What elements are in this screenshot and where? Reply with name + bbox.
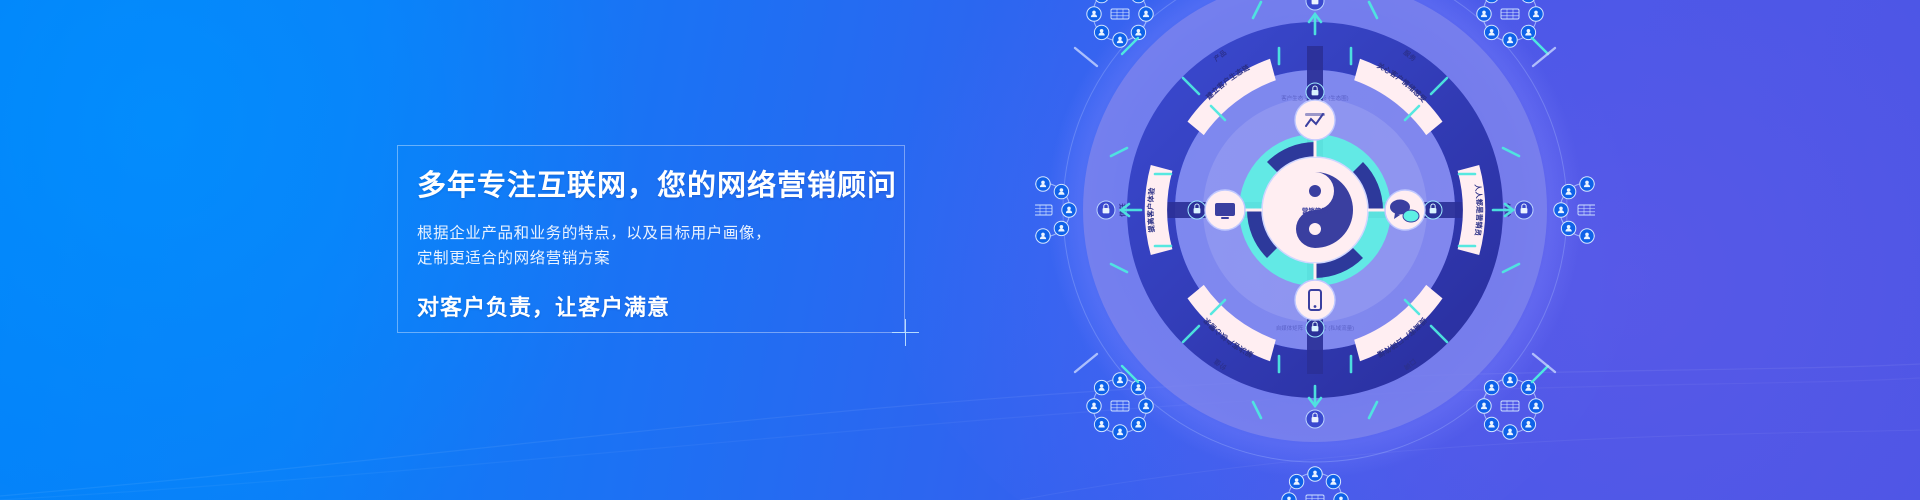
mobile-icon [1295,280,1335,320]
chat-icon [1385,190,1425,230]
page-title: 多年专注互联网，您的网络营销顾问 [417,168,937,204]
core-label: 营销策略 [1302,206,1329,215]
subtitle-line-2: 定制更适合的网络营销方案 [417,246,937,271]
marketing-wheel-diagram: 建立客户生态链 关心客户情绪感受 人人都是营销员 提高客户口碑传播 解决客户核心… [1035,0,1595,500]
crosshair-marker [905,332,906,333]
user-cluster-se [1477,373,1543,439]
chart-icon [1295,100,1335,140]
background-swoosh [0,260,1920,500]
user-cluster-sw [1087,373,1153,439]
subtitle-line-1: 根据企业产品和业务的特点，以及目标用户画像， [417,221,937,246]
hero-banner: 多年专注互联网，您的网络营销顾问 根据企业产品和业务的特点，以及目标用户画像， … [0,0,1920,500]
page-subtitle: 根据企业产品和业务的特点，以及目标用户画像， 定制更适合的网络营销方案 [417,221,937,271]
copy-block: 多年专注互联网，您的网络营销顾问 根据企业产品和业务的特点，以及目标用户画像， … [417,168,937,322]
page-slogan: 对客户负责，让客户满意 [417,290,937,322]
monitor-icon [1205,190,1245,230]
wheel-svg: 建立客户生态链 关心客户情绪感受 人人都是营销员 提高客户口碑传播 解决客户核心… [1035,0,1595,500]
